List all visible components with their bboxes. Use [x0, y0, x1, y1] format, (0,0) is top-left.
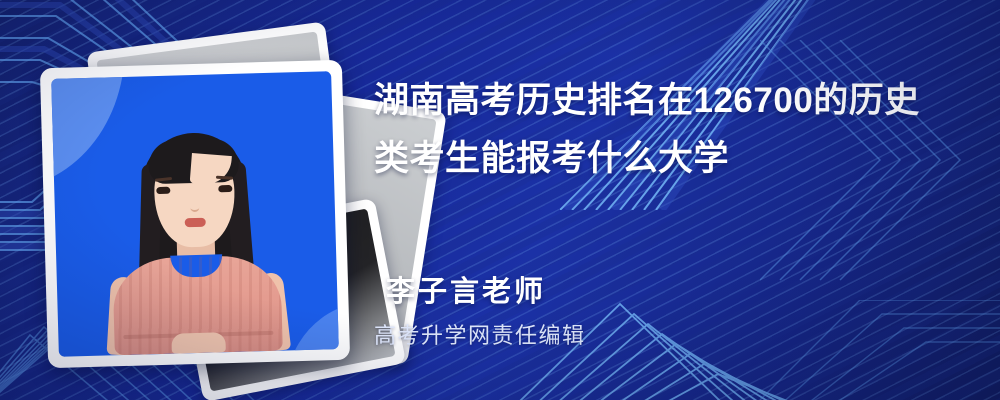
text-column: 湖南高考历史排名在126700的历史 类考生能报考什么大学 李子言老师 高考升学…: [374, 0, 974, 400]
avatar: [51, 71, 339, 357]
author-name: 李子言老师: [386, 268, 546, 310]
banner-title-line-2: 类考生能报考什么大学: [374, 130, 954, 188]
photo-stack: [40, 28, 370, 358]
banner-card: 湖南高考历史排名在126700的历史 类考生能报考什么大学 李子言老师 高考升学…: [0, 0, 1000, 400]
portrait-eye-right: [218, 185, 232, 192]
portrait-illustration: [87, 112, 304, 356]
banner-title-line-1: 湖南高考历史排名在126700的历史: [374, 72, 954, 130]
portrait-hands: [171, 332, 226, 353]
portrait-eye-left: [156, 187, 170, 194]
photo-frame-front: [40, 60, 350, 368]
portrait-mouth: [185, 218, 206, 228]
author-role: 高考升学网责任编辑: [374, 318, 586, 350]
banner-title: 湖南高考历史排名在126700的历史 类考生能报考什么大学: [374, 72, 954, 188]
